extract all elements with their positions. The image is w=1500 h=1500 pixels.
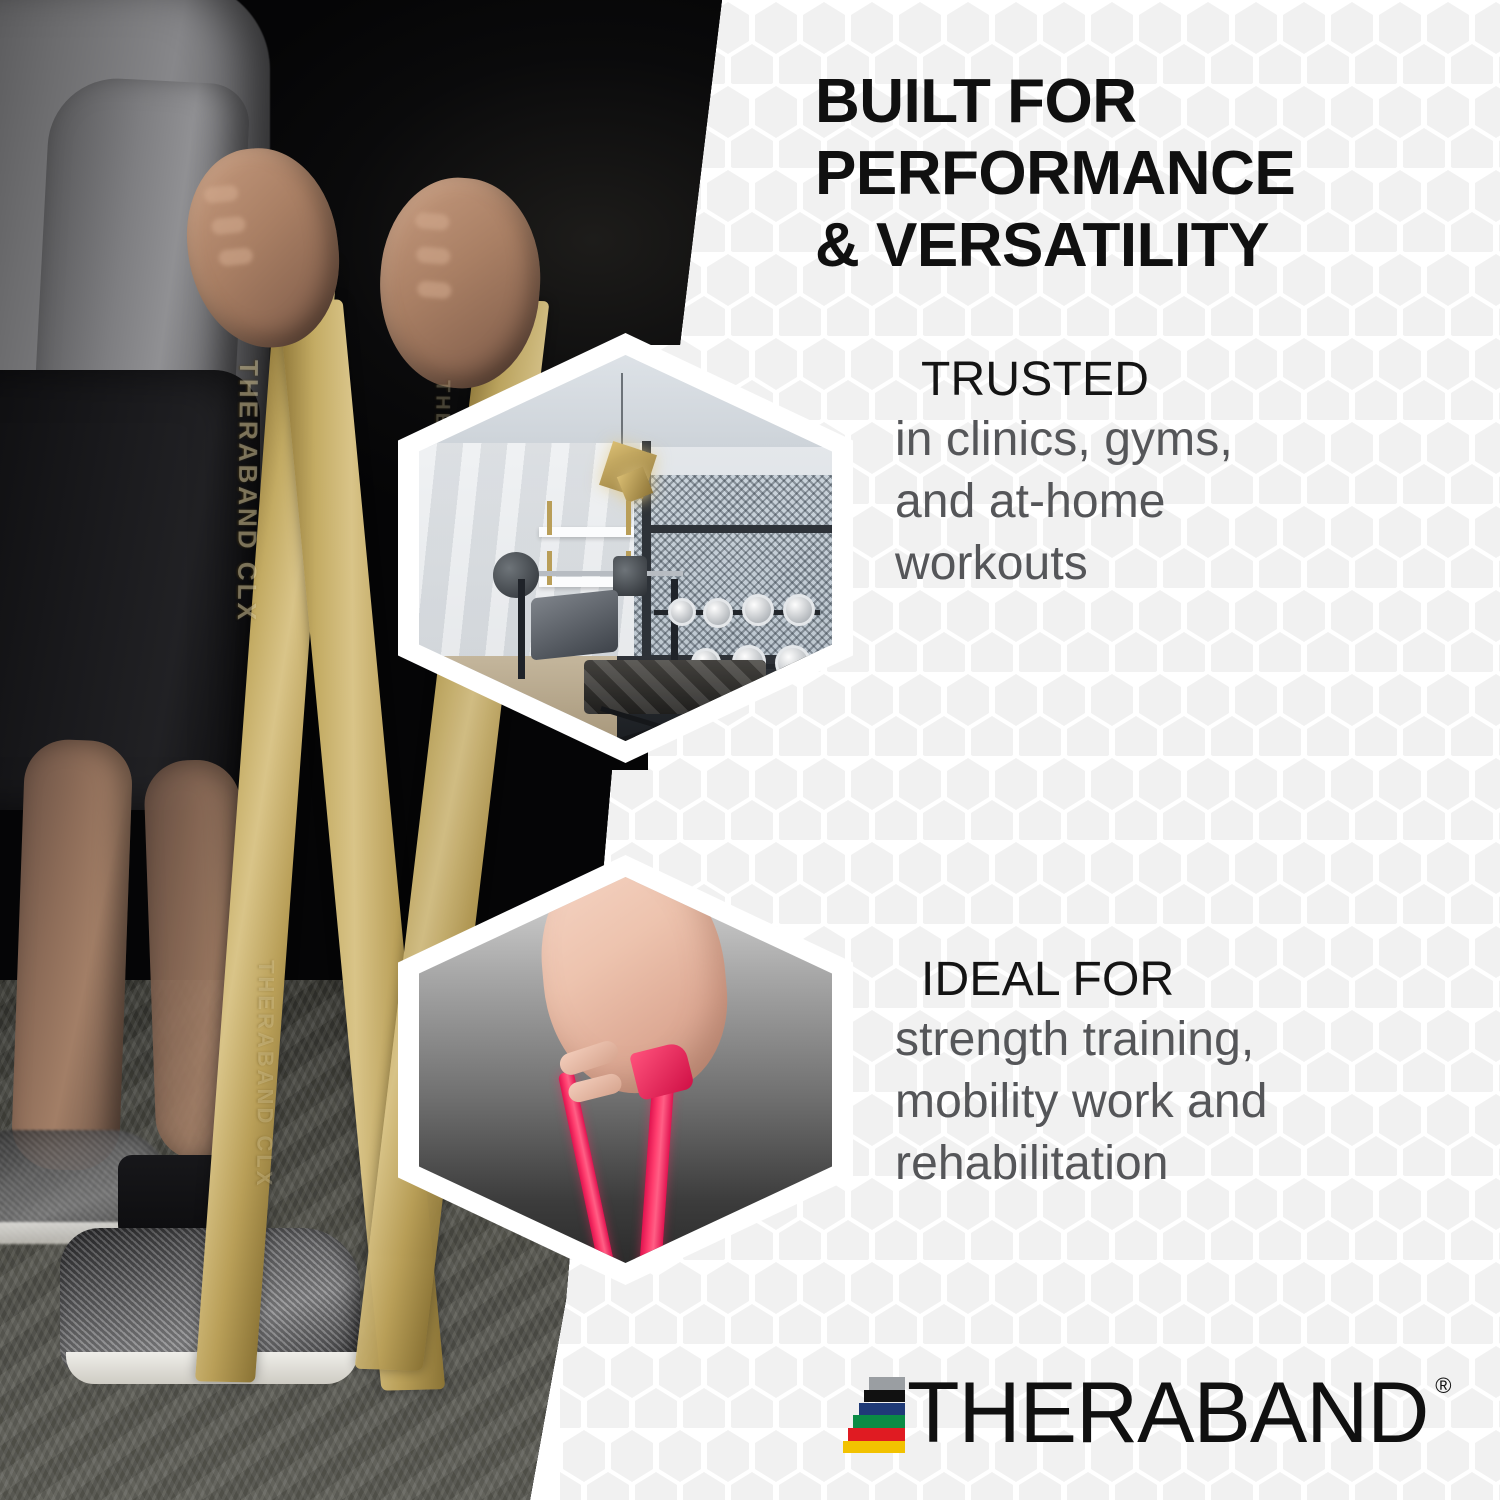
band-brand-text-tertiary: THERABAND CLX (251, 960, 279, 1189)
hexagon-image-clip (419, 355, 832, 741)
feature-body-line-2: mobility work and (895, 1071, 1475, 1133)
band-brand-text: THERABAND CLX (231, 360, 264, 623)
logo-wordmark-text: THERABAND (907, 1365, 1428, 1461)
logo-bar-5 (843, 1441, 905, 1454)
logo-bar-3 (853, 1415, 905, 1428)
theraband-logo: THERABAND ® (843, 1374, 1428, 1453)
athlete-leg-left (11, 738, 134, 1172)
feature-text-trusted: TRUSTED in clinics, gyms, and at-home wo… (895, 352, 1465, 596)
feature-title: TRUSTED (921, 352, 1465, 409)
hand-with-band-illustration (419, 877, 832, 1263)
athlete-shorts (0, 370, 260, 810)
logo-wordmark: THERABAND ® (907, 1374, 1428, 1453)
headline-line-3: & VERSATILITY (815, 210, 1455, 282)
feature-body-line-3: rehabilitation (895, 1133, 1475, 1195)
registered-trademark-icon: ® (1435, 1376, 1450, 1396)
headline-line-2: PERFORMANCE (815, 138, 1455, 210)
hexagon-image-clip (419, 877, 832, 1263)
hexagon-frame (398, 333, 853, 763)
feature-image-gym (398, 333, 853, 763)
infographic-page: THERABAND CLX THERABAND THERABAND CLX BU… (0, 0, 1500, 1500)
feature-image-band (398, 855, 853, 1285)
feature-body-line-2: and at-home (895, 471, 1465, 533)
hexagon-frame (398, 855, 853, 1285)
feature-body-line-3: workouts (895, 533, 1465, 595)
feature-body-line-1: in clinics, gyms, (895, 409, 1465, 471)
logo-bar-0 (869, 1377, 905, 1390)
logo-bar-1 (864, 1390, 905, 1403)
headline-line-1: BUILT FOR (815, 66, 1455, 138)
feature-title: IDEAL FOR (921, 952, 1475, 1009)
feature-text-ideal: IDEAL FOR strength training, mobility wo… (895, 952, 1475, 1196)
logo-color-bars-icon (843, 1377, 905, 1453)
gym-interior-illustration (419, 355, 832, 741)
logo-bar-2 (859, 1403, 905, 1416)
logo-bar-4 (848, 1428, 905, 1441)
feature-body-line-1: strength training, (895, 1009, 1475, 1071)
page-headline: BUILT FOR PERFORMANCE & VERSATILITY (815, 66, 1455, 282)
